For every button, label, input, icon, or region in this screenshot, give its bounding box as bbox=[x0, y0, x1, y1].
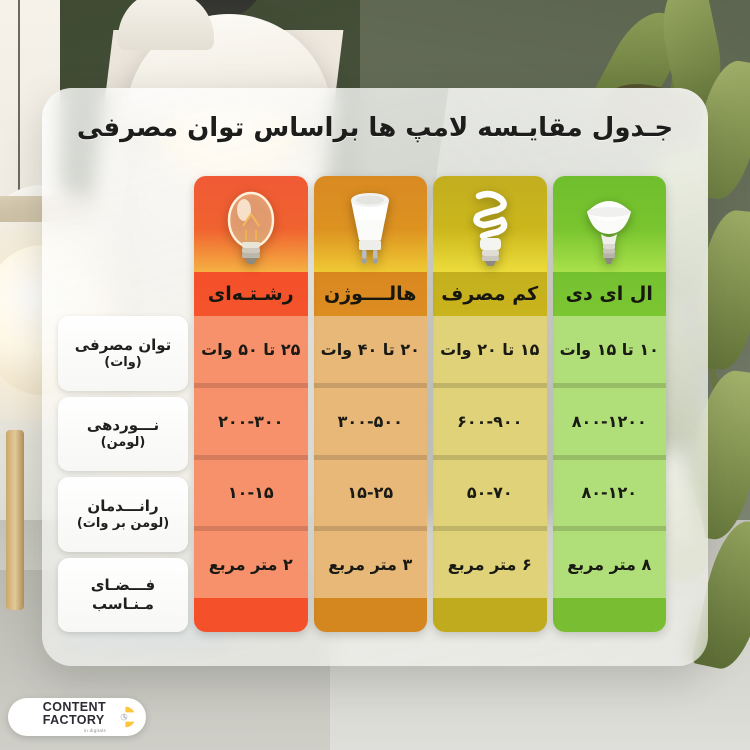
row-label-power-main: توان مصرفی bbox=[75, 336, 172, 355]
halogen-gu10-icon bbox=[314, 176, 428, 272]
column-footer-halogen bbox=[314, 598, 428, 632]
row-label-area-sub: مـنـاسب bbox=[92, 595, 154, 614]
cell-led-power: ۱۰ تا ۱۵ وات bbox=[553, 316, 667, 383]
row-label-power-unit: (وات) bbox=[104, 355, 141, 371]
column-halogen: هالــــوژن ۲۰ تا ۴۰ وات ۳۰۰-۵۰۰ ۱۵-۲۵ ۳ … bbox=[314, 176, 428, 632]
content-factory-c-icon bbox=[112, 705, 136, 729]
row-label-area: فـــضـای مـنـاسب bbox=[58, 558, 188, 633]
cell-incandescent-lumens: ۲۰۰-۳۰۰ bbox=[194, 383, 308, 455]
logo-tagline: in digitals bbox=[43, 729, 106, 734]
row-label-power: توان مصرفی (وات) bbox=[58, 316, 188, 391]
column-footer-incandescent bbox=[194, 598, 308, 632]
cell-led-efficiency: ۸۰-۱۲۰ bbox=[553, 455, 667, 527]
row-label-lumens: نـــوردهی (لومن) bbox=[58, 397, 188, 472]
column-led: ال ای دی ۱۰ تا ۱۵ وات ۸۰۰-۱۲۰۰ ۸۰-۱۲۰ ۸ … bbox=[553, 176, 667, 632]
row-label-lumens-main: نـــوردهی bbox=[87, 416, 159, 435]
pendant-cord-a bbox=[18, 0, 20, 200]
cell-cfl-lumens: ۶۰۰-۹۰۰ bbox=[433, 383, 547, 455]
brand-logo[interactable]: CONTENT FACTORY in digitals bbox=[8, 698, 146, 736]
column-incandescent: رشـتـه‌ای ۲۵ تا ۵۰ وات ۲۰۰-۳۰۰ ۱۰-۱۵ ۲ م… bbox=[194, 176, 308, 632]
row-label-lumens-unit: (لومن) bbox=[101, 435, 146, 451]
cell-incandescent-power: ۲۵ تا ۵۰ وات bbox=[194, 316, 308, 383]
cell-cfl-power: ۱۵ تا ۲۰ وات bbox=[433, 316, 547, 383]
column-header-halogen: هالــــوژن bbox=[314, 272, 428, 316]
row-label-area-main: فـــضـای bbox=[91, 576, 156, 595]
row-label-efficiency-main: رانـــدمان bbox=[87, 497, 158, 516]
pendant-lamp-small-white bbox=[118, 0, 214, 50]
cell-incandescent-efficiency: ۱۰-۱۵ bbox=[194, 455, 308, 527]
logo-line-1: CONTENT bbox=[43, 701, 106, 714]
page-title: جـدول مقایـسه لامپ ها براساس توان مصرفی bbox=[0, 113, 750, 143]
column-footer-led bbox=[553, 598, 667, 632]
column-header-cfl: کم مصرف bbox=[433, 272, 547, 316]
cell-halogen-area: ۳ متر مربع bbox=[314, 526, 428, 598]
cfl-spiral-icon bbox=[433, 176, 547, 272]
cell-led-area: ۸ متر مربع bbox=[553, 526, 667, 598]
cell-halogen-power: ۲۰ تا ۴۰ وات bbox=[314, 316, 428, 383]
logo-wordmark: CONTENT FACTORY in digitals bbox=[43, 701, 106, 734]
brass-floor-lamp bbox=[6, 430, 24, 610]
led-reflector-icon bbox=[553, 176, 667, 272]
cell-incandescent-area: ۲ متر مربع bbox=[194, 526, 308, 598]
comparison-table: توان مصرفی (وات) نـــوردهی (لومن) رانـــ… bbox=[58, 176, 666, 632]
column-header-incandescent: رشـتـه‌ای bbox=[194, 272, 308, 316]
column-footer-cfl bbox=[433, 598, 547, 632]
cell-halogen-lumens: ۳۰۰-۵۰۰ bbox=[314, 383, 428, 455]
row-label-efficiency-unit: (لومن بر وات) bbox=[77, 516, 169, 532]
infographic-canvas: جـدول مقایـسه لامپ ها براساس توان مصرفی … bbox=[0, 0, 750, 750]
cell-cfl-area: ۶ متر مربع bbox=[433, 526, 547, 598]
column-header-led: ال ای دی bbox=[553, 272, 667, 316]
row-label-efficiency: رانـــدمان (لومن بر وات) bbox=[58, 477, 188, 552]
column-cfl: کم مصرف ۱۵ تا ۲۰ وات ۶۰۰-۹۰۰ ۵۰-۷۰ ۶ متر… bbox=[433, 176, 547, 632]
incandescent-bulb-icon bbox=[194, 176, 308, 272]
row-label-column: توان مصرفی (وات) نـــوردهی (لومن) رانـــ… bbox=[58, 176, 188, 632]
cell-led-lumens: ۸۰۰-۱۲۰۰ bbox=[553, 383, 667, 455]
cell-halogen-efficiency: ۱۵-۲۵ bbox=[314, 455, 428, 527]
cell-cfl-efficiency: ۵۰-۷۰ bbox=[433, 455, 547, 527]
logo-line-2: FACTORY bbox=[43, 714, 106, 727]
